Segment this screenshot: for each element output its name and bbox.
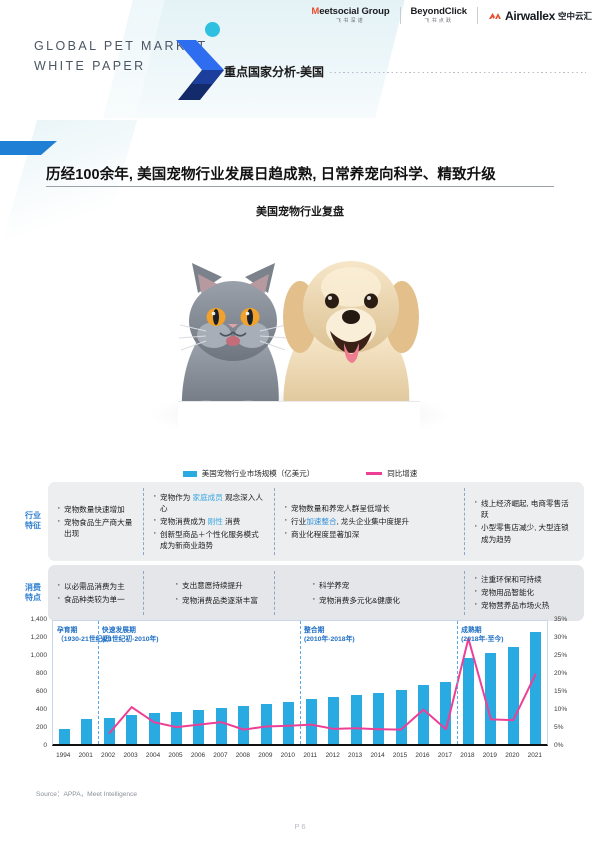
- list-item: 小型零售店减少, 大型连锁成为趋势: [473, 522, 576, 545]
- matrix-cell-consumption-phase1: 以必需品消费为主 食品种类较为单一: [48, 571, 143, 615]
- x-tick-label: 2018: [460, 752, 474, 759]
- list-item: 商业化程度显著加深: [283, 529, 456, 540]
- chart-x-axis-labels: 1994200120022003200420052006200720082009…: [52, 752, 548, 764]
- phase-label-period: (21世纪初-2010年): [102, 635, 159, 644]
- y-tick-right: 10%: [554, 706, 567, 713]
- x-tick-label: 2001: [79, 752, 93, 759]
- slide-page: GLOBAL PET MARKET WHITE PAPER 重点国家分析-美国 …: [0, 0, 600, 846]
- x-tick-label: 2004: [146, 752, 160, 759]
- legend-line-swatch-icon: [366, 472, 382, 475]
- list-item: 行业加速整合, 龙头企业集中度提升: [283, 516, 456, 527]
- airwallex-mark-icon: [488, 11, 502, 21]
- x-tick-label: 2002: [101, 752, 115, 759]
- ledge-mask: [178, 401, 420, 453]
- x-tick-label: 1994: [56, 752, 70, 759]
- phase-label-period: (2010年-2018年): [304, 635, 355, 644]
- y-tick-right: 30%: [554, 634, 567, 641]
- y-tick-right: 20%: [554, 670, 567, 677]
- list-item: 宠物营养品市场火热: [473, 600, 576, 611]
- list-item: 宠物消费成为 刚性 消费: [152, 516, 266, 527]
- x-tick-label: 2019: [483, 752, 497, 759]
- x-tick-label: 2017: [438, 752, 452, 759]
- phase-label: 成熟期(2018年-至今): [461, 626, 503, 644]
- page-header: GLOBAL PET MARKET WHITE PAPER 重点国家分析-美国 …: [0, 0, 600, 118]
- meetsocial-group-logo: MMeetsocial Groupeetsocial Group 飞书深诺: [311, 7, 389, 24]
- phase-label-name: 快速发展期: [102, 626, 159, 635]
- phase-divider: [98, 621, 99, 744]
- y-tick-right: 5%: [554, 724, 564, 731]
- partner-logos: MMeetsocial Groupeetsocial Group 飞书深诺 Be…: [311, 7, 592, 24]
- chart-y-axis-right: 0%5%10%15%20%25%30%35%: [550, 616, 584, 746]
- phase-label: 整合期(2010年-2018年): [304, 626, 355, 644]
- x-tick-label: 2013: [348, 752, 362, 759]
- airwallex-logo: Airwallex 空中云汇: [488, 9, 592, 23]
- logo-divider: [400, 7, 401, 24]
- x-tick-label: 2016: [415, 752, 429, 759]
- x-tick-label: 2021: [528, 752, 542, 759]
- list-item: 宠物消费多元化&健康化: [311, 595, 456, 606]
- row-label-industry-l1: 行业: [25, 511, 41, 521]
- matrix-cell-industry-phase3: 宠物数量和养宠人群呈低增长 行业加速整合, 龙头企业集中度提升 商业化程度显著加…: [274, 488, 464, 555]
- legend-label-growth-rate: 同比增速: [387, 468, 417, 479]
- legend-item-market-size: 美国宠物行业市场规模（亿美元）: [183, 468, 315, 479]
- page-number: P 6: [0, 822, 600, 831]
- beyondclick-logo-cn: 飞书点跃: [424, 19, 453, 24]
- y-tick-left: 1,000: [30, 652, 47, 659]
- phase-label-period: (2018年-至今): [461, 635, 503, 644]
- list-item: 支出意愿持续提升: [174, 580, 266, 591]
- x-tick-label: 2009: [258, 752, 272, 759]
- x-tick-label: 2006: [191, 752, 205, 759]
- row-label-consumption-l2: 特点: [25, 593, 41, 603]
- pets-illustration: [0, 225, 600, 470]
- characteristics-matrix: 行业 特征 宠物数量快速增加 宠物食品生产商大量出现 宠物作为 家庭成员 观念深…: [18, 482, 584, 625]
- matrix-cell-industry-phase4: 线上经济崛起, 电商零售活跃 小型零售店减少, 大型连锁成为趋势: [464, 488, 584, 555]
- y-tick-left: 0: [43, 742, 47, 749]
- list-item: 科学养宠: [311, 580, 456, 591]
- y-tick-left: 800: [36, 670, 47, 677]
- logo-divider: [477, 7, 478, 24]
- row-label-industry-l2: 特征: [25, 521, 41, 531]
- section-tag: 重点国家分析-美国: [224, 63, 324, 80]
- chart-y-axis-left: 02004006008001,0001,2001,400: [18, 616, 50, 746]
- list-item: 宠物数量快速增加: [56, 504, 135, 515]
- phase-divider: [300, 621, 301, 744]
- title-underline: [46, 186, 554, 187]
- matrix-row-consumption: 消费 特点 以必需品消费为主 食品种类较为单一 支出意愿持续提升 宠物消费品类逐…: [18, 565, 584, 621]
- legend-bar-swatch-icon: [183, 471, 197, 477]
- matrix-cell-industry-phase1: 宠物数量快速增加 宠物食品生产商大量出现: [48, 488, 143, 555]
- y-tick-left: 1,200: [30, 634, 47, 641]
- list-item: 食品种类较为单一: [56, 594, 135, 605]
- row-label-consumption: 消费 特点: [18, 565, 48, 621]
- list-item: 以必需品消费为主: [56, 581, 135, 592]
- list-item: 宠物消费品类逐渐丰富: [174, 595, 266, 606]
- y-tick-left: 200: [36, 724, 47, 731]
- matrix-row-consumption-body: 以必需品消费为主 食品种类较为单一 支出意愿持续提升 宠物消费品类逐渐丰富 科学…: [48, 565, 584, 621]
- row-label-consumption-l1: 消费: [25, 583, 41, 593]
- airwallex-logo-cn: 空中云汇: [558, 10, 592, 22]
- x-tick-label: 2005: [168, 752, 182, 759]
- matrix-cell-consumption-phase4: 注重环保和可持续 宠物用品智能化 宠物营养品市场火热: [464, 571, 584, 615]
- cat-figure: [179, 263, 287, 422]
- x-tick-label: 2008: [236, 752, 250, 759]
- list-item: 宠物作为 家庭成员 观念深入人心: [152, 492, 266, 515]
- chart-plot-area: 孕育期（1930-21世纪初）快速发展期(21世纪初-2010年)整合期(201…: [52, 620, 548, 746]
- beyondclick-logo: BeyondClick 飞书点跃: [411, 7, 467, 24]
- y-tick-right: 15%: [554, 688, 567, 695]
- chart-source: Source：APPA，Meet Intelligence: [36, 788, 137, 798]
- y-tick-right: 25%: [554, 652, 567, 659]
- x-tick-label: 2015: [393, 752, 407, 759]
- phase-label-name: 成熟期: [461, 626, 503, 635]
- x-tick-label: 2020: [505, 752, 519, 759]
- header-dotted-rule: [330, 72, 586, 73]
- chart-legend: 美国宠物行业市场规模（亿美元） 同比增速: [0, 468, 600, 479]
- airwallex-logo-en: Airwallex: [505, 9, 555, 23]
- phase-divider: [457, 621, 458, 744]
- legend-item-growth-rate: 同比增速: [366, 468, 417, 479]
- row-label-industry: 行业 特征: [18, 482, 48, 561]
- list-item: 宠物数量和养宠人群呈低增长: [283, 503, 456, 514]
- beyondclick-logo-en: BeyondClick: [411, 7, 467, 17]
- matrix-row-industry: 行业 特征 宠物数量快速增加 宠物食品生产商大量出现 宠物作为 家庭成员 观念深…: [18, 482, 584, 561]
- y-tick-right: 0%: [554, 742, 564, 749]
- meetsocial-logo-cn: 飞书深诺: [336, 19, 365, 24]
- market-size-chart: 02004006008001,0001,2001,400 0%5%10%15%2…: [18, 616, 584, 776]
- y-tick-left: 400: [36, 706, 47, 713]
- list-item: 线上经济崛起, 电商零售活跃: [473, 498, 576, 521]
- phase-label: 快速发展期(21世纪初-2010年): [102, 626, 159, 644]
- matrix-row-industry-body: 宠物数量快速增加 宠物食品生产商大量出现 宠物作为 家庭成员 观念深入人心 宠物…: [48, 482, 584, 561]
- list-item: 创新型商品＋个性化服务模式成为新商业趋势: [152, 529, 266, 552]
- matrix-cell-consumption-phase3: 科学养宠 宠物消费多元化&健康化: [274, 571, 464, 615]
- chart-subtitle: 美国宠物行业复盘: [0, 203, 600, 219]
- x-tick-label: 2011: [303, 752, 317, 759]
- x-tick-label: 2010: [281, 752, 295, 759]
- list-item: 注重环保和可持续: [473, 574, 576, 585]
- matrix-cell-consumption-phase2: 支出意愿持续提升 宠物消费品类逐渐丰富: [143, 571, 274, 615]
- x-tick-label: 2012: [326, 752, 340, 759]
- list-item: 宠物用品智能化: [473, 587, 576, 598]
- y-tick-left: 1,400: [30, 616, 47, 623]
- matrix-cell-industry-phase2: 宠物作为 家庭成员 观念深入人心 宠物消费成为 刚性 消费 创新型商品＋个性化服…: [143, 488, 274, 555]
- x-tick-label: 2007: [213, 752, 227, 759]
- x-tick-label: 2014: [370, 752, 384, 759]
- phase-label-name: 整合期: [304, 626, 355, 635]
- y-tick-left: 600: [36, 688, 47, 695]
- y-tick-right: 35%: [554, 616, 567, 623]
- list-item: 宠物食品生产商大量出现: [56, 517, 135, 540]
- legend-label-market-size: 美国宠物行业市场规模（亿美元）: [202, 468, 315, 479]
- teal-dot-icon: [205, 22, 220, 37]
- x-tick-label: 2003: [123, 752, 137, 759]
- page-title: 历经100余年, 美国宠物行业发展日趋成熟, 日常养宠向科学、精致升级: [46, 163, 496, 184]
